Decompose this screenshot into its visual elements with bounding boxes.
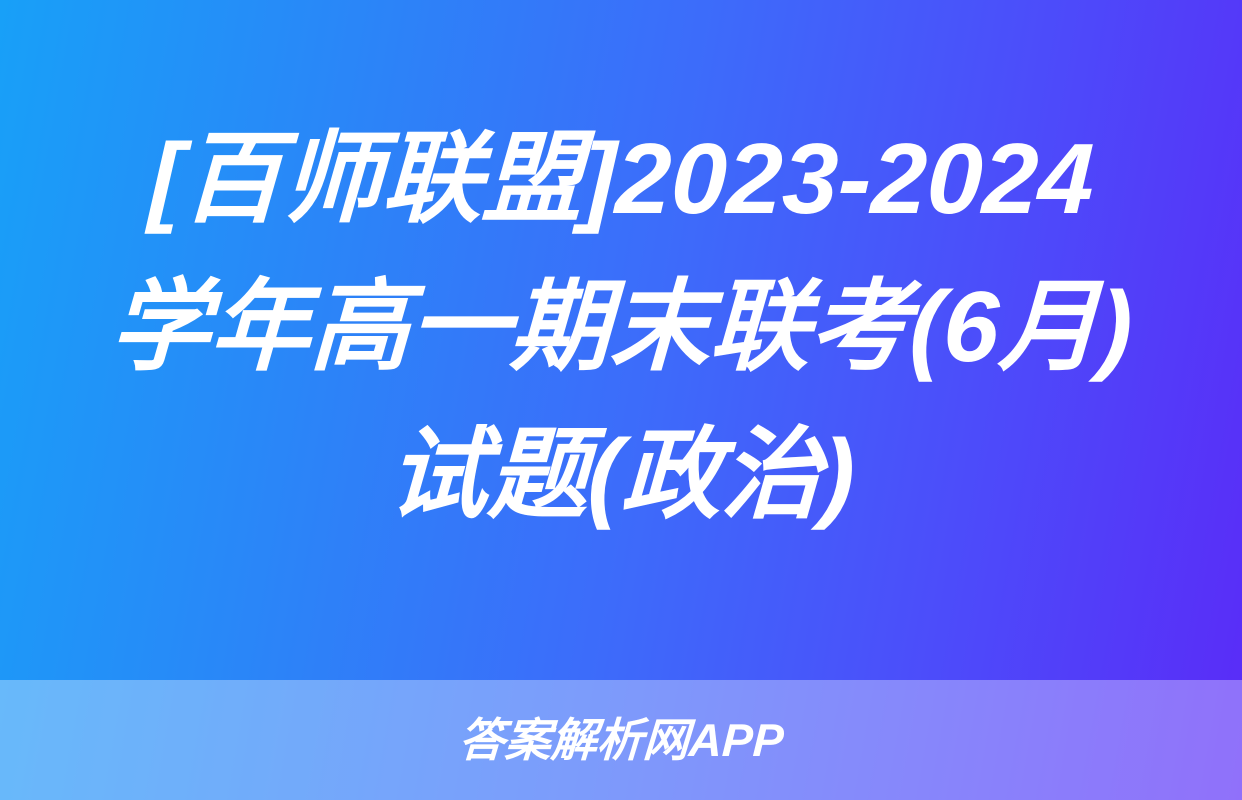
poster-title-line-3: 试题(政治): [385, 401, 857, 549]
poster-title-line-1: [百师联盟]2023-2024: [146, 105, 1096, 253]
app-brand-watermark: 答案解析网APP: [457, 717, 784, 763]
poster-title-block: [百师联盟]2023-2024 学年高一期末联考(6月) 试题(政治): [0, 0, 1242, 680]
exam-title-poster: [百师联盟]2023-2024 学年高一期末联考(6月) 试题(政治) 答案解析…: [0, 0, 1242, 800]
poster-title-line-2: 学年高一期末联考(6月): [107, 253, 1134, 401]
poster-footer-band: 答案解析网APP: [0, 680, 1242, 800]
